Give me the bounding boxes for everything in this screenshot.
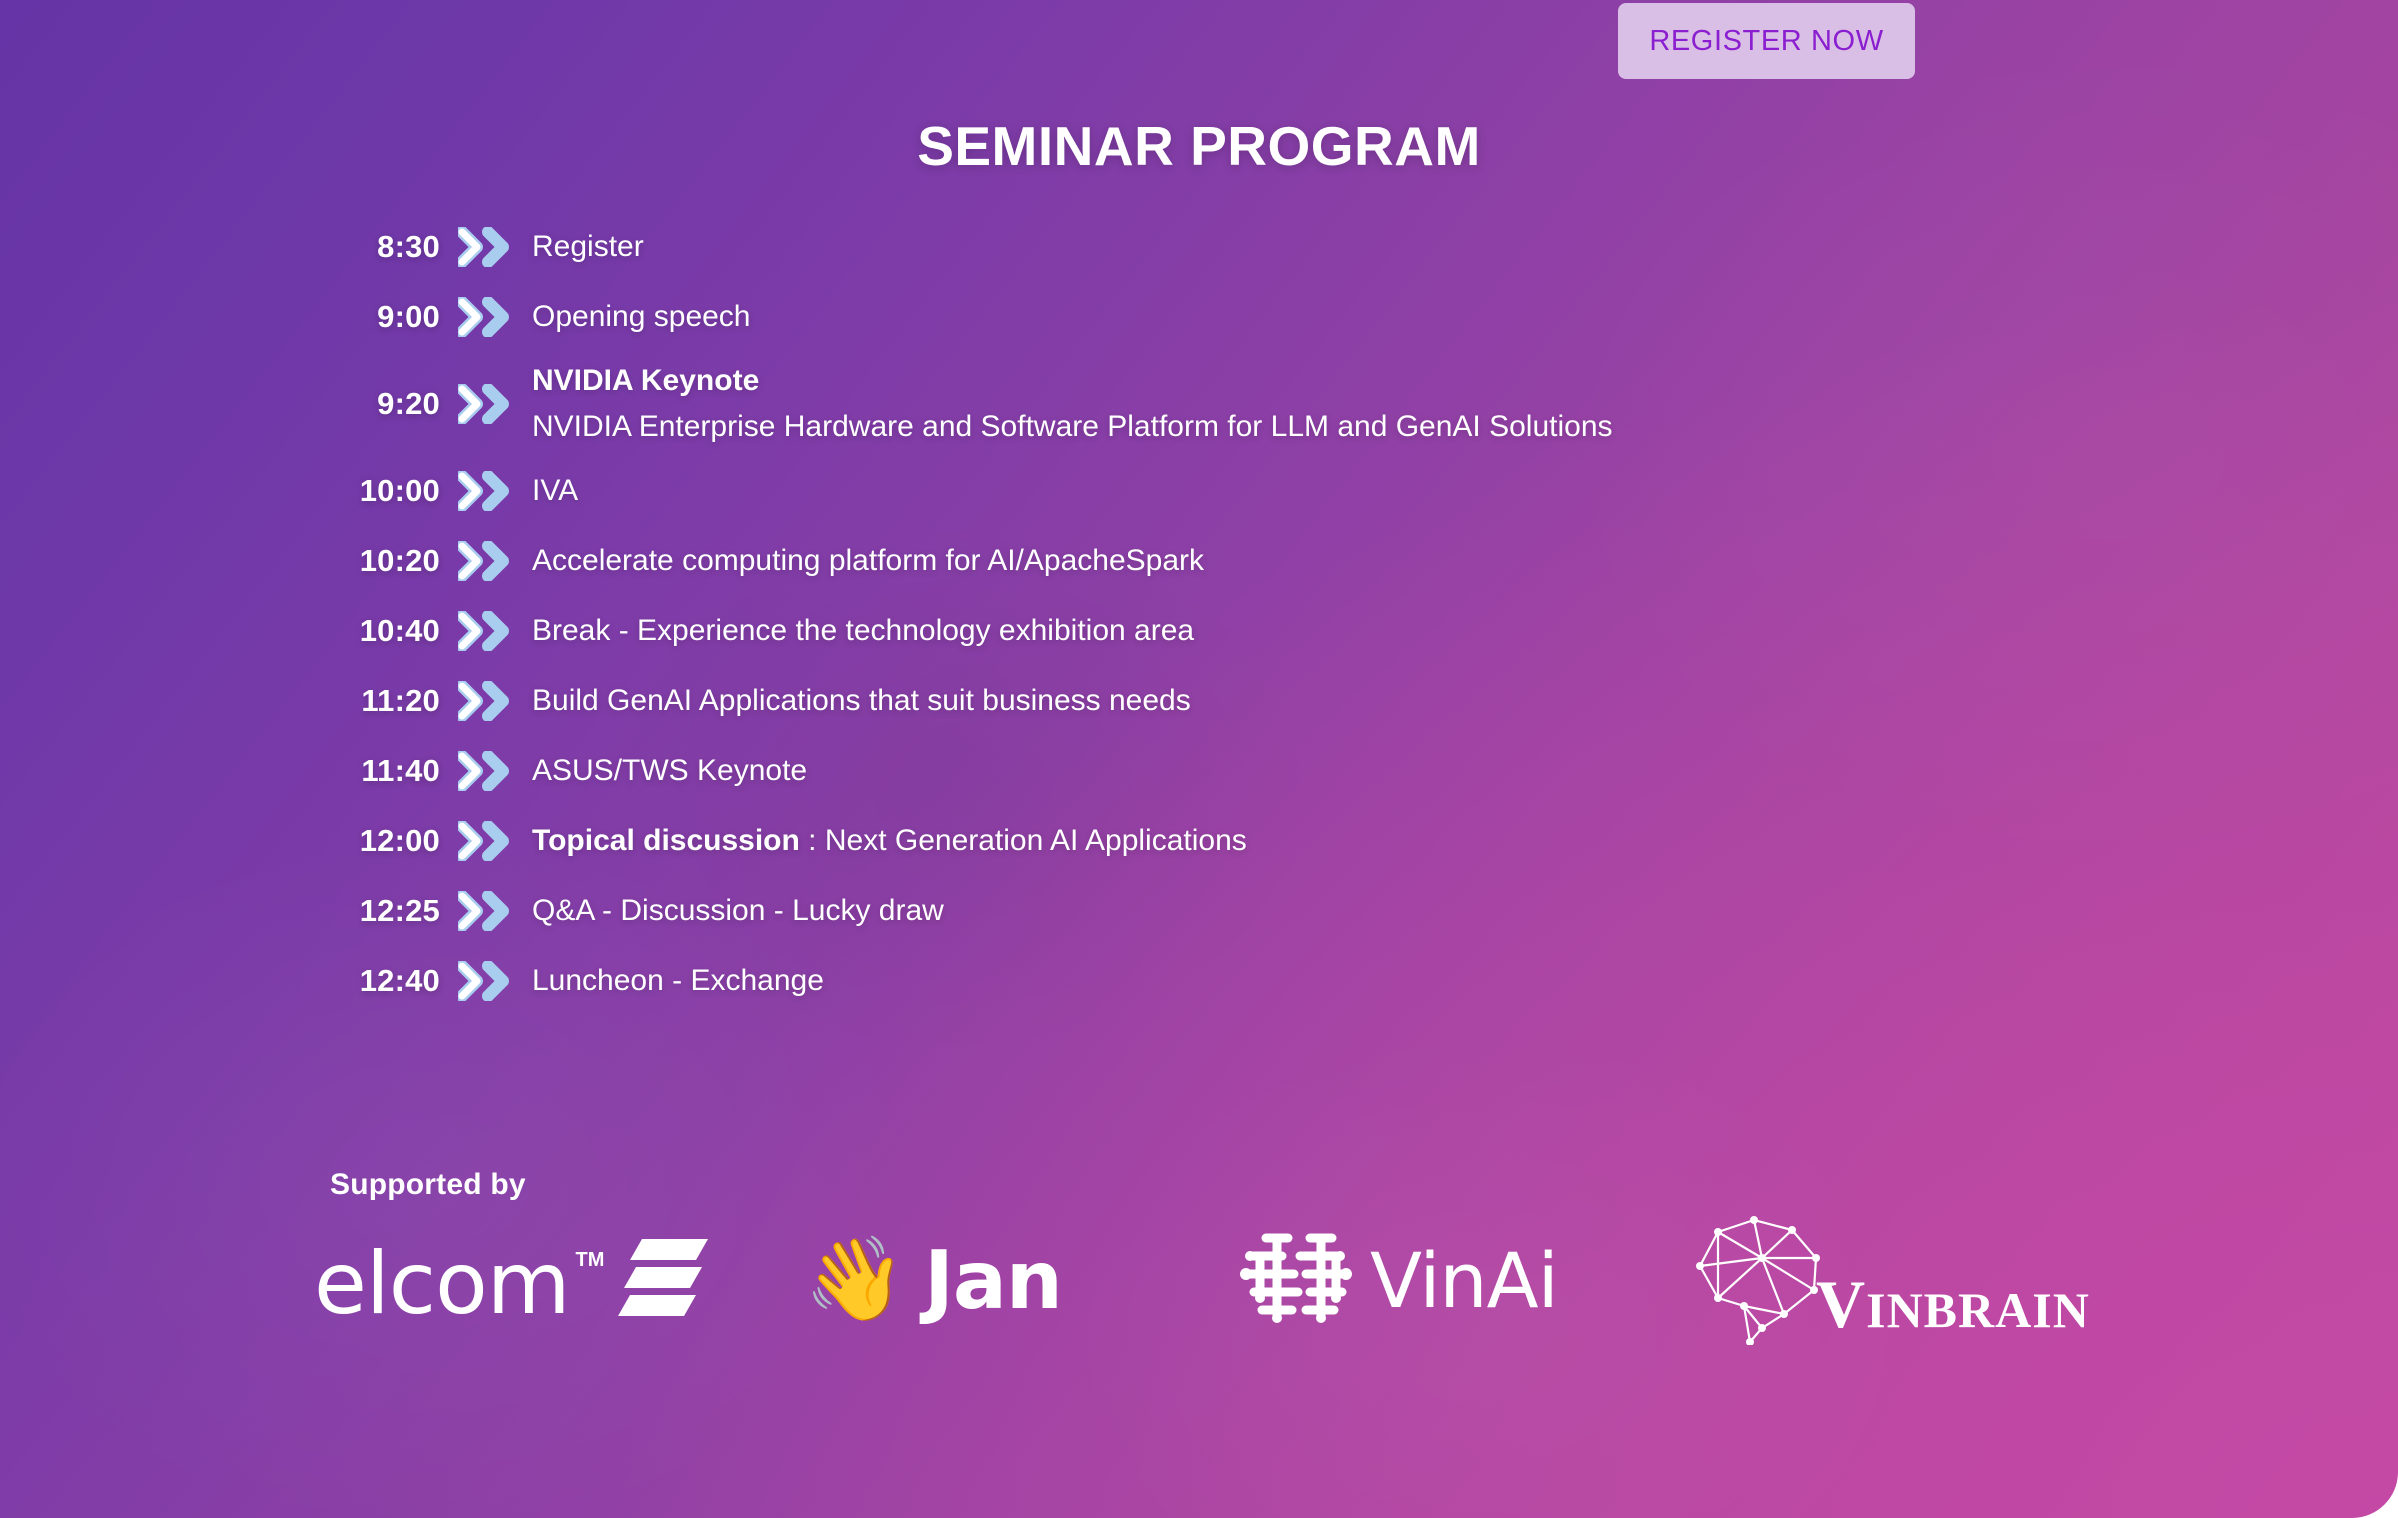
- agenda-time: 12:40: [300, 963, 440, 999]
- double-chevron-right-icon: [440, 611, 524, 651]
- vinbrain-wordmark: VINBRAIN: [1816, 1265, 2090, 1344]
- agenda-row: 10:00 IVA: [300, 456, 2000, 526]
- double-chevron-right-icon: [440, 541, 524, 581]
- agenda-row: 12:40 Luncheon - Exchange: [300, 946, 2000, 1016]
- agenda-row: 11:20 Build GenAI Applications that suit…: [300, 666, 2000, 736]
- vinbrain-rest: INBRAIN: [1866, 1282, 2090, 1338]
- elcom-e-mark-icon: [616, 1235, 712, 1326]
- agenda-time: 9:20: [300, 386, 440, 422]
- agenda-row: 9:00 Opening speech: [300, 282, 2000, 352]
- agenda-row: 11:40 ASUS/TWS Keynote: [300, 736, 2000, 806]
- agenda-time: 10:00: [300, 473, 440, 509]
- agenda-text: Q&A - Discussion - Lucky draw: [524, 891, 2000, 931]
- agenda-row: 9:20 NVIDIA Keynote NVIDIA Enterprise Ha…: [300, 352, 2000, 456]
- double-chevron-right-icon: [440, 961, 524, 1001]
- page-title: SEMINAR PROGRAM: [0, 114, 2398, 178]
- agenda-text: IVA: [524, 471, 2000, 511]
- register-now-button[interactable]: REGISTER NOW: [1618, 3, 1915, 79]
- double-chevron-right-icon: [440, 751, 524, 791]
- trademark-icon: TM: [575, 1249, 604, 1272]
- agenda-time: 10:40: [300, 613, 440, 649]
- supported-by-label: Supported by: [330, 1168, 526, 1202]
- double-chevron-right-icon: [440, 891, 524, 931]
- double-chevron-right-icon: [440, 227, 524, 267]
- vinbrain-initial: V: [1816, 1266, 1866, 1342]
- agenda-text: Build GenAI Applications that suit busin…: [524, 681, 2000, 721]
- agenda-list: 8:30 Register 9:00 Opening speech: [300, 212, 2000, 1016]
- jan-wordmark: Jan: [924, 1234, 1062, 1327]
- agenda-row: 12:00 Topical discussion : Next Generati…: [300, 806, 2000, 876]
- agenda-text-subtitle: NVIDIA Enterprise Hardware and Software …: [532, 407, 2000, 447]
- double-chevron-right-icon: [440, 471, 524, 511]
- slide-page: REGISTER NOW SEMINAR PROGRAM 8:30 Regist…: [0, 0, 2398, 1518]
- agenda-time: 9:00: [300, 299, 440, 335]
- sponsor-logo-elcom: elcom TM: [300, 1235, 770, 1326]
- sponsor-logo-vinai: VinAi: [1210, 1226, 1670, 1335]
- vinai-wordmark: VinAi: [1370, 1236, 1558, 1325]
- agenda-text: Luncheon - Exchange: [524, 961, 2000, 1001]
- agenda-text: Topical discussion : Next Generation AI …: [524, 821, 2000, 861]
- agenda-text: Break - Experience the technology exhibi…: [524, 611, 2000, 651]
- agenda-row: 12:25 Q&A - Discussion - Lucky draw: [300, 876, 2000, 946]
- agenda-text: Accelerate computing platform for AI/Apa…: [524, 541, 2000, 581]
- double-chevron-right-icon: [440, 297, 524, 337]
- agenda-text-bold: NVIDIA Keynote: [532, 364, 759, 397]
- agenda-time: 12:25: [300, 893, 440, 929]
- agenda-time: 12:00: [300, 823, 440, 859]
- agenda-time: 8:30: [300, 229, 440, 265]
- elcom-wordmark: elcom: [314, 1244, 569, 1326]
- agenda-row: 8:30 Register: [300, 212, 2000, 282]
- agenda-time: 10:20: [300, 543, 440, 579]
- agenda-text: Opening speech: [524, 297, 2000, 337]
- agenda-row: 10:40 Break - Experience the technology …: [300, 596, 2000, 666]
- agenda-time: 11:40: [300, 753, 440, 789]
- vinai-circuit-mark-icon: [1236, 1226, 1354, 1335]
- agenda-time: 11:20: [300, 683, 440, 719]
- agenda-text: Register: [524, 227, 2000, 267]
- sponsor-logo-row: elcom TM 👋 Jan: [300, 1205, 2180, 1355]
- agenda-text-rest: : Next Generation AI Applications: [800, 824, 1247, 857]
- double-chevron-right-icon: [440, 821, 524, 861]
- agenda-row: 10:20 Accelerate computing platform for …: [300, 526, 2000, 596]
- sponsor-logo-jan: 👋 Jan: [770, 1234, 1210, 1327]
- agenda-text: NVIDIA Keynote NVIDIA Enterprise Hardwar…: [524, 361, 2000, 447]
- double-chevron-right-icon: [440, 384, 524, 424]
- sponsor-logo-vinbrain: VINBRAIN: [1670, 1210, 2140, 1350]
- agenda-text: ASUS/TWS Keynote: [524, 751, 2000, 791]
- double-chevron-right-icon: [440, 681, 524, 721]
- agenda-text-bold: Topical discussion: [532, 824, 800, 857]
- waving-hand-icon: 👋: [804, 1239, 906, 1321]
